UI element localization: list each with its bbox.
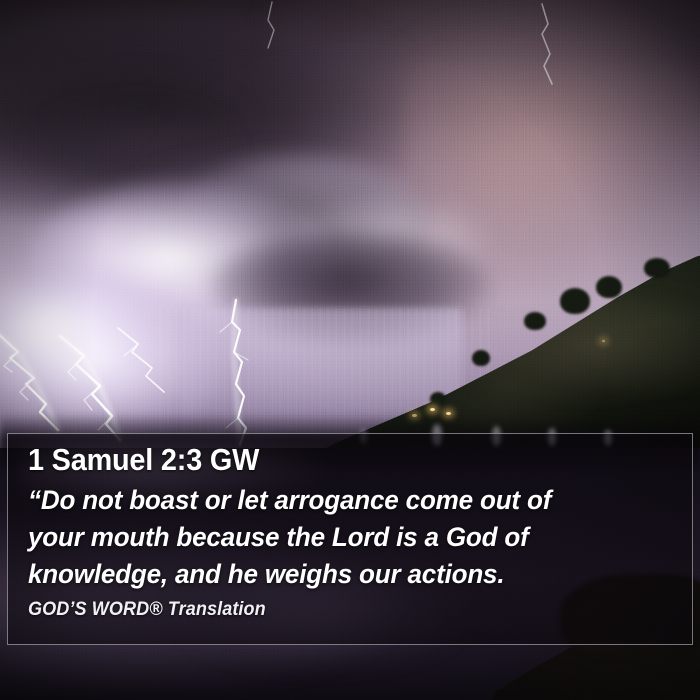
verse-text: “Do not boast or let arrogance come out …: [28, 482, 674, 593]
verse-text-line: knowledge, and he weighs our actions.: [28, 556, 651, 593]
verse-panel: 1 Samuel 2:3 GW “Do not boast or let arr…: [7, 433, 693, 645]
verse-text-line: “Do not boast or let arrogance come out …: [28, 482, 651, 519]
verse-reference: 1 Samuel 2:3 GW: [28, 440, 629, 480]
verse-text-line: your mouth because the Lord is a God of: [28, 519, 651, 556]
translation-attribution: GOD’S WORD® Translation: [28, 599, 642, 621]
verse-image-card: 1 Samuel 2:3 GW “Do not boast or let arr…: [0, 0, 700, 700]
